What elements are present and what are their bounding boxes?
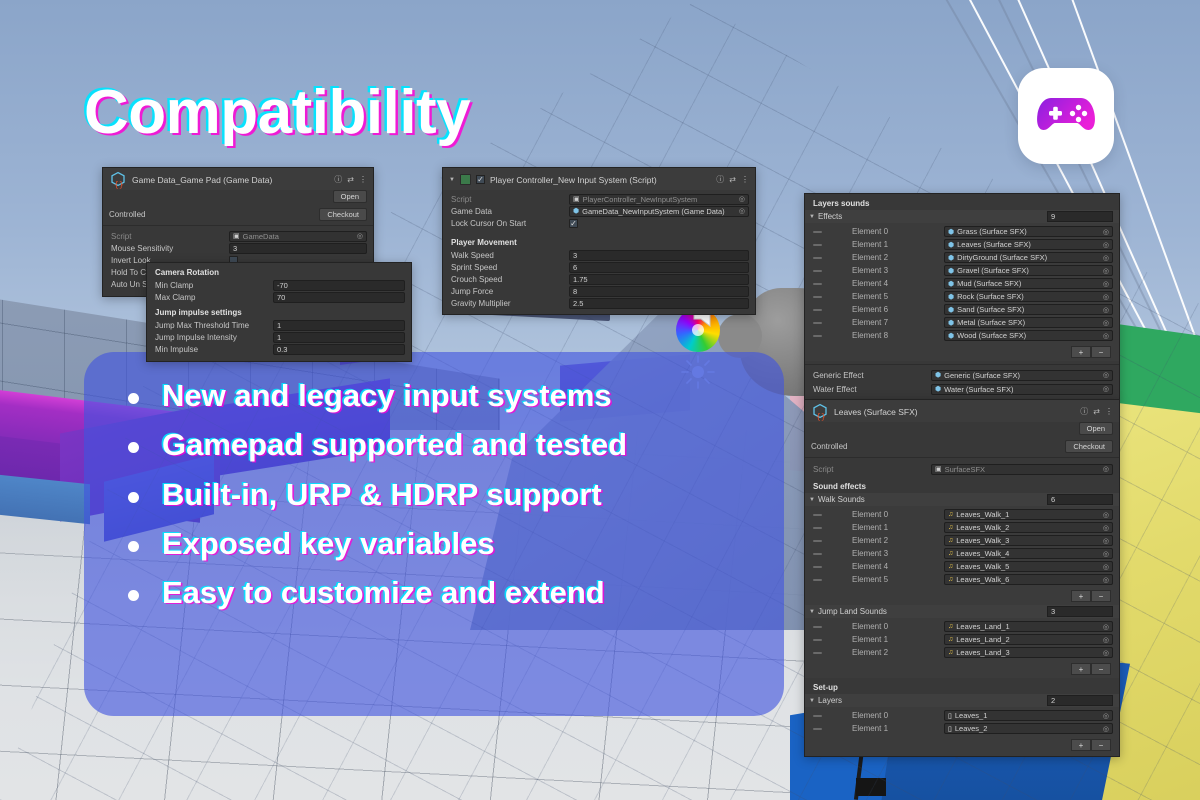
panel-title: Leaves (Surface SFX) <box>834 407 1075 417</box>
table-row: Min Clamp -70 <box>147 279 411 291</box>
drag-handle-icon[interactable] <box>813 527 822 529</box>
asset-icon: ⬢ <box>948 306 954 314</box>
table-row: Crouch Speed 1.75 <box>443 273 755 285</box>
svg-text:{}: {} <box>114 180 124 189</box>
array-size-field[interactable]: 9 <box>1047 211 1113 222</box>
table-row: Element 0♫Leaves_Land_1◎ <box>805 620 1119 633</box>
element-value: DirtyGround (Surface SFX) <box>957 253 1047 262</box>
element-value: Grass (Surface SFX) <box>957 227 1027 236</box>
drag-handle-icon[interactable] <box>813 335 822 337</box>
audio-clip-icon: ♫ <box>948 649 953 656</box>
table-row: Element 6⬢Sand (Surface SFX)◎ <box>805 303 1119 316</box>
object-picker-icon[interactable]: ◎ <box>1103 385 1109 393</box>
drag-handle-icon[interactable] <box>813 715 822 717</box>
panel-header: {} Game Data_Game Pad (Game Data) ⓘ ⇄ ⋮ <box>103 168 373 190</box>
list-item: Easy to customize and extend <box>118 575 754 611</box>
object-picker-icon[interactable]: ◎ <box>1103 537 1109 545</box>
element-value: Gravel (Surface SFX) <box>957 266 1029 275</box>
drag-handle-icon[interactable] <box>813 231 822 233</box>
array-walk-sounds: Element 0♫Leaves_Walk_1◎Element 1♫Leaves… <box>805 506 1119 588</box>
kebab-menu-icon[interactable]: ⋮ <box>741 175 749 184</box>
add-element-button[interactable]: + <box>1071 663 1091 675</box>
table-row: Jump Impulse Intensity 1 <box>147 331 411 343</box>
number-field[interactable]: 1 <box>273 332 405 343</box>
asset-icon: ⬢ <box>948 293 954 301</box>
object-picker-icon[interactable]: ◎ <box>1103 712 1109 720</box>
element-label: Element 1 <box>826 523 944 532</box>
object-field[interactable]: ♫Leaves_Walk_3◎ <box>944 535 1113 546</box>
number-field[interactable]: 3 <box>229 243 367 254</box>
table-row: Element 0⬢Grass (Surface SFX)◎ <box>805 225 1119 238</box>
object-picker-icon[interactable]: ◎ <box>1103 465 1109 473</box>
table-row: Element 5♫Leaves_Walk_6◎ <box>805 573 1119 586</box>
section-header: Sound effects <box>805 477 1119 493</box>
section-header: Set-up <box>805 678 1119 694</box>
object-picker-icon[interactable]: ◎ <box>1103 576 1109 584</box>
inspector-panel-leaves-sfx: {} Leaves (Surface SFX) ⓘ ⇄ ⋮ Open Contr… <box>804 399 1120 757</box>
field-label: Crouch Speed <box>451 275 569 284</box>
kebab-menu-icon[interactable]: ⋮ <box>359 175 367 184</box>
array-effects: Element 0⬢Grass (Surface SFX)◎Element 1⬢… <box>805 223 1119 344</box>
element-value: Leaves_Walk_2 <box>956 523 1009 532</box>
help-icon[interactable]: ⓘ <box>716 174 724 185</box>
object-field[interactable]: ⬢ Generic (Surface SFX)◎ <box>931 370 1113 381</box>
object-field[interactable]: ⬢Metal (Surface SFX)◎ <box>944 317 1113 328</box>
object-field[interactable]: ♫Leaves_Walk_5◎ <box>944 561 1113 572</box>
inspector-panel-camera-rotation: Camera Rotation Min Clamp -70 Max Clamp … <box>146 262 412 362</box>
panel-title: Player Controller_New Input System (Scri… <box>490 175 711 185</box>
foldout-label: Walk Sounds <box>818 495 1047 504</box>
table-row: Script ▣ SurfaceSFX◎ <box>805 461 1119 477</box>
inspector-panel-layers-sounds: Layers sounds ▼ Effects 9 Element 0⬢Gras… <box>804 193 1120 401</box>
field-label: Max Clamp <box>155 293 273 302</box>
asset-cube-icon: {} <box>811 403 829 421</box>
remove-element-button[interactable]: − <box>1091 739 1111 751</box>
inspector-panel-player-controller: ▼ ✓ Player Controller_New Input System (… <box>442 167 756 315</box>
remove-element-button[interactable]: − <box>1091 346 1111 358</box>
array-size-field[interactable]: 6 <box>1047 494 1113 505</box>
field-label: Walk Speed <box>451 251 569 260</box>
element-label: Element 0 <box>826 510 944 519</box>
table-row: Element 2♫Leaves_Land_3◎ <box>805 646 1119 659</box>
panel-title: Game Data_Game Pad (Game Data) <box>132 175 329 185</box>
table-row: Element 4⬢Mud (Surface SFX)◎ <box>805 277 1119 290</box>
object-field[interactable]: ⬢Rock (Surface SFX)◎ <box>944 291 1113 302</box>
element-value: Leaves_Land_2 <box>956 635 1009 644</box>
element-value: Leaves_Walk_1 <box>956 510 1009 519</box>
preset-icon[interactable]: ⇄ <box>1093 407 1100 416</box>
script-icon: ▣ <box>573 195 580 203</box>
script-field[interactable]: ▣ GameData◎ <box>229 231 367 242</box>
remove-element-button[interactable]: − <box>1091 590 1111 602</box>
drag-handle-icon[interactable] <box>813 566 822 568</box>
field-label: Jump Force <box>451 287 569 296</box>
object-picker-icon[interactable]: ◎ <box>1103 524 1109 532</box>
number-field[interactable]: 70 <box>273 292 405 303</box>
element-label: Element 5 <box>826 575 944 584</box>
section-header: Player Movement <box>443 233 755 249</box>
script-icon: ▣ <box>233 232 240 240</box>
element-label: Element 3 <box>826 266 944 275</box>
element-label: Element 1 <box>826 635 944 644</box>
table-row: Element 2⬢DirtyGround (Surface SFX)◎ <box>805 251 1119 264</box>
list-item: Built-in, URP & HDRP support <box>118 477 754 513</box>
foldout-label: Layers <box>818 696 1047 705</box>
table-row: Element 1♫Leaves_Land_2◎ <box>805 633 1119 646</box>
object-field[interactable]: ♫Leaves_Land_3◎ <box>944 647 1113 658</box>
list-item: Exposed key variables <box>118 526 754 562</box>
section-header: Jump impulse settings <box>147 303 411 319</box>
table-row: Element 1▯Leaves_2◎ <box>805 722 1119 735</box>
element-label: Element 2 <box>826 536 944 545</box>
foldout-jump-land-sounds[interactable]: ▼ Jump Land Sounds 3 <box>805 605 1119 618</box>
drag-handle-icon[interactable] <box>813 309 822 311</box>
field-label: Water Effect <box>813 385 931 394</box>
table-row: Max Clamp 70 <box>147 291 411 303</box>
table-row: Element 2♫Leaves_Walk_3◎ <box>805 534 1119 547</box>
object-picker-icon[interactable]: ◎ <box>1103 623 1109 631</box>
element-value: Leaves_Walk_6 <box>956 575 1009 584</box>
script-field[interactable]: ▣ PlayerController_NewInputSystem◎ <box>569 194 749 205</box>
element-label: Element 6 <box>826 305 944 314</box>
element-value: Rock (Surface SFX) <box>957 292 1024 301</box>
table-row: Water Effect ⬢ Water (Surface SFX)◎ <box>805 382 1119 396</box>
object-field[interactable]: ▯Leaves_2◎ <box>944 723 1113 734</box>
object-field[interactable]: ⬢Wood (Surface SFX)◎ <box>944 330 1113 341</box>
add-element-button[interactable]: + <box>1071 739 1091 751</box>
field-label: Game Data <box>451 207 569 216</box>
foldout-triangle-icon[interactable]: ▼ <box>809 609 815 615</box>
drag-handle-icon[interactable] <box>813 579 822 581</box>
drag-handle-icon[interactable] <box>813 296 822 298</box>
audio-clip-icon: ♫ <box>948 563 953 570</box>
element-label: Element 1 <box>826 240 944 249</box>
array-layers: Element 0▯Leaves_1◎Element 1▯Leaves_2◎ <box>805 707 1119 737</box>
drag-handle-icon[interactable] <box>813 626 822 628</box>
table-row: Element 1♫Leaves_Walk_2◎ <box>805 521 1119 534</box>
table-row: Script ▣ PlayerController_NewInputSystem… <box>443 193 755 205</box>
drag-handle-icon[interactable] <box>813 257 822 259</box>
table-row: Walk Speed 3 <box>443 249 755 261</box>
script-component-icon <box>460 174 471 185</box>
audio-clip-icon: ♫ <box>948 623 953 630</box>
element-label: Element 1 <box>826 724 944 733</box>
add-element-button[interactable]: + <box>1071 590 1091 602</box>
script-icon: ▣ <box>935 465 942 473</box>
object-field[interactable]: ⬢DirtyGround (Surface SFX)◎ <box>944 252 1113 263</box>
table-row: Element 1⬢Leaves (Surface SFX)◎ <box>805 238 1119 251</box>
number-field[interactable]: 6 <box>569 262 749 273</box>
number-field[interactable]: 3 <box>569 250 749 261</box>
table-row: Generic Effect ⬢ Generic (Surface SFX)◎ <box>805 368 1119 382</box>
field-label: Gravity Multiplier <box>451 299 569 308</box>
asset-icon: ⬢ <box>935 385 941 393</box>
asset-icon: ⬢ <box>948 267 954 275</box>
object-picker-icon[interactable]: ◎ <box>739 195 745 203</box>
asset-icon: ⬢ <box>935 371 941 379</box>
number-field[interactable]: 2.5 <box>569 298 749 309</box>
svg-text:{}: {} <box>816 412 826 421</box>
object-field[interactable]: ⬢Leaves (Surface SFX)◎ <box>944 239 1113 250</box>
drag-handle-icon[interactable] <box>813 322 822 324</box>
object-field[interactable]: ♫Leaves_Walk_2◎ <box>944 522 1113 533</box>
audio-clip-icon: ♫ <box>948 636 953 643</box>
foldout-triangle-icon[interactable]: ▼ <box>809 497 815 503</box>
object-picker-icon[interactable]: ◎ <box>1103 550 1109 558</box>
element-label: Element 5 <box>826 292 944 301</box>
table-row: Min Impulse 0.3 <box>147 343 411 355</box>
field-label: Jump Impulse Intensity <box>155 333 273 342</box>
array-size-field[interactable]: 2 <box>1047 695 1113 706</box>
field-label: Lock Cursor On Start <box>451 219 569 228</box>
audio-clip-icon: ♫ <box>948 550 953 557</box>
remove-element-button[interactable]: − <box>1091 663 1111 675</box>
element-label: Element 2 <box>826 253 944 262</box>
object-field[interactable]: ♫Leaves_Walk_6◎ <box>944 574 1113 585</box>
panel-header: {} Leaves (Surface SFX) ⓘ ⇄ ⋮ <box>805 400 1119 422</box>
table-row: Element 0♫Leaves_Walk_1◎ <box>805 508 1119 521</box>
object-picker-icon[interactable]: ◎ <box>1103 563 1109 571</box>
audio-clip-icon: ♫ <box>948 576 953 583</box>
object-field[interactable]: ⬢Grass (Surface SFX)◎ <box>944 226 1113 237</box>
foldout-layers[interactable]: ▼ Layers 2 <box>805 694 1119 707</box>
element-value: Leaves_Land_1 <box>956 622 1009 631</box>
array-size-field[interactable]: 3 <box>1047 606 1113 617</box>
table-row: Jump Force 8 <box>443 285 755 297</box>
table-row: Game Data ⬢ GameData_NewInputSystem (Gam… <box>443 205 755 217</box>
app-icon-badge <box>1018 68 1114 164</box>
add-element-button[interactable]: + <box>1071 346 1091 358</box>
table-row: Lock Cursor On Start ✓ <box>443 217 755 229</box>
object-picker-icon[interactable]: ◎ <box>1103 267 1109 275</box>
object-picker-icon[interactable]: ◎ <box>1103 293 1109 301</box>
object-picker-icon[interactable]: ◎ <box>1103 649 1109 657</box>
element-label: Element 2 <box>826 648 944 657</box>
audio-clip-icon: ♫ <box>948 511 953 518</box>
table-row: Mouse Sensitivity 3 <box>103 242 373 254</box>
drag-handle-icon[interactable] <box>813 652 822 654</box>
object-picker-icon[interactable]: ◎ <box>1103 254 1109 262</box>
element-label: Element 4 <box>826 562 944 571</box>
element-value: Metal (Surface SFX) <box>957 318 1025 327</box>
element-label: Element 0 <box>826 622 944 631</box>
element-label: Element 3 <box>826 549 944 558</box>
table-row: Jump Max Threshold Time 1 <box>147 319 411 331</box>
object-picker-icon[interactable]: ◎ <box>1103 511 1109 519</box>
audio-clip-icon: ♫ <box>948 537 953 544</box>
foldout-triangle-icon[interactable]: ▼ <box>809 214 815 220</box>
object-picker-icon[interactable]: ◎ <box>739 207 745 215</box>
checkout-button[interactable]: Checkout <box>1065 440 1113 453</box>
object-field[interactable]: ♫Leaves_Walk_4◎ <box>944 548 1113 559</box>
field-label: Script <box>451 195 569 204</box>
number-field[interactable]: 1 <box>273 320 405 331</box>
asset-icon: ⬢ <box>948 332 954 340</box>
field-label: Min Clamp <box>155 281 273 290</box>
number-field[interactable]: -70 <box>273 280 405 291</box>
drag-handle-icon[interactable] <box>813 283 822 285</box>
asset-icon: ⬢ <box>948 241 954 249</box>
field-label: Script <box>813 465 931 474</box>
element-value: Mud (Surface SFX) <box>957 279 1021 288</box>
open-button[interactable]: Open <box>1079 422 1113 435</box>
asset-icon: ⬢ <box>948 280 954 288</box>
controlled-label: Controlled <box>109 210 319 219</box>
section-header: Layers sounds <box>805 194 1119 210</box>
drag-handle-icon[interactable] <box>813 514 822 516</box>
audio-clip-icon: ♫ <box>948 524 953 531</box>
list-item: Gamepad supported and tested <box>118 427 754 463</box>
table-row: Element 0▯Leaves_1◎ <box>805 709 1119 722</box>
number-field[interactable]: 1.75 <box>569 274 749 285</box>
document-icon: ▯ <box>948 725 952 733</box>
table-row: Element 7⬢Metal (Surface SFX)◎ <box>805 316 1119 329</box>
table-row: Gravity Multiplier 2.5 <box>443 297 755 309</box>
asset-cube-icon: {} <box>109 171 127 189</box>
foldout-walk-sounds[interactable]: ▼ Walk Sounds 6 <box>805 493 1119 506</box>
object-field[interactable]: ⬢ Water (Surface SFX)◎ <box>931 384 1113 395</box>
element-label: Element 8 <box>826 331 944 340</box>
table-row: Script ▣ GameData◎ <box>103 230 373 242</box>
object-field[interactable]: ⬢ GameData_NewInputSystem (Game Data)◎ <box>569 206 749 217</box>
object-field[interactable]: ⬢Gravel (Surface SFX)◎ <box>944 265 1113 276</box>
element-value: Leaves_Walk_3 <box>956 536 1009 545</box>
object-picker-icon[interactable]: ◎ <box>1103 725 1109 733</box>
array-jump-land-sounds: Element 0♫Leaves_Land_1◎Element 1♫Leaves… <box>805 618 1119 661</box>
object-field[interactable]: ♫Leaves_Land_1◎ <box>944 621 1113 632</box>
feature-list: New and legacy input systems Gamepad sup… <box>118 378 754 611</box>
asset-icon: ⬢ <box>948 228 954 236</box>
object-picker-icon[interactable]: ◎ <box>1103 636 1109 644</box>
preset-icon[interactable]: ⇄ <box>347 175 354 184</box>
foldout-effects[interactable]: ▼ Effects 9 <box>805 210 1119 223</box>
table-row: Element 3♫Leaves_Walk_4◎ <box>805 547 1119 560</box>
asset-icon: ⬢ <box>573 207 579 215</box>
component-enabled-checkbox[interactable]: ✓ <box>476 175 485 184</box>
drag-handle-icon[interactable] <box>813 270 822 272</box>
page-title: Compatibility <box>84 82 470 144</box>
element-value: Leaves_2 <box>955 724 988 733</box>
field-label: Mouse Sensitivity <box>111 244 229 253</box>
foldout-label: Effects <box>818 212 1047 221</box>
drag-handle-icon[interactable] <box>813 639 822 641</box>
list-item: New and legacy input systems <box>118 378 754 414</box>
drag-handle-icon[interactable] <box>813 553 822 555</box>
field-label: Sprint Speed <box>451 263 569 272</box>
element-value: Wood (Surface SFX) <box>957 331 1026 340</box>
object-picker-icon[interactable]: ◎ <box>1103 332 1109 340</box>
element-value: Leaves_Walk_4 <box>956 549 1009 558</box>
section-header: Camera Rotation <box>147 263 411 279</box>
table-row: Element 8⬢Wood (Surface SFX)◎ <box>805 329 1119 342</box>
element-label: Element 0 <box>826 227 944 236</box>
object-field[interactable]: ♫Leaves_Land_2◎ <box>944 634 1113 645</box>
object-picker-icon[interactable]: ◎ <box>1103 280 1109 288</box>
checkbox-lock-cursor[interactable]: ✓ <box>569 219 578 228</box>
element-label: Element 0 <box>826 711 944 720</box>
object-picker-icon[interactable]: ◎ <box>357 232 363 240</box>
document-icon: ▯ <box>948 712 952 720</box>
foldout-triangle-icon[interactable]: ▼ <box>809 698 815 704</box>
open-button[interactable]: Open <box>333 190 367 203</box>
element-value: Leaves_Walk_5 <box>956 562 1009 571</box>
table-row: Element 5⬢Rock (Surface SFX)◎ <box>805 290 1119 303</box>
field-label: Jump Max Threshold Time <box>155 321 273 330</box>
element-value: Leaves_Land_3 <box>956 648 1009 657</box>
field-label: Min Impulse <box>155 345 273 354</box>
drag-handle-icon[interactable] <box>813 244 822 246</box>
help-icon[interactable]: ⓘ <box>334 174 342 185</box>
element-value: Leaves_1 <box>955 711 988 720</box>
object-picker-icon[interactable]: ◎ <box>1103 241 1109 249</box>
object-field[interactable]: ♫Leaves_Walk_1◎ <box>944 509 1113 520</box>
drag-handle-icon[interactable] <box>813 540 822 542</box>
controlled-label: Controlled <box>811 442 1065 451</box>
element-value: Leaves (Surface SFX) <box>957 240 1031 249</box>
element-label: Element 4 <box>826 279 944 288</box>
object-field[interactable]: ▯Leaves_1◎ <box>944 710 1113 721</box>
table-row: Element 3⬢Gravel (Surface SFX)◎ <box>805 264 1119 277</box>
preset-icon[interactable]: ⇄ <box>729 175 736 184</box>
number-field[interactable]: 8 <box>569 286 749 297</box>
table-row: Element 4♫Leaves_Walk_5◎ <box>805 560 1119 573</box>
object-picker-icon[interactable]: ◎ <box>1103 371 1109 379</box>
foldout-label: Jump Land Sounds <box>818 607 1047 616</box>
element-value: Sand (Surface SFX) <box>957 305 1024 314</box>
kebab-menu-icon[interactable]: ⋮ <box>1105 407 1113 416</box>
element-label: Element 7 <box>826 318 944 327</box>
table-row: Sprint Speed 6 <box>443 261 755 273</box>
asset-icon: ⬢ <box>948 254 954 262</box>
script-field[interactable]: ▣ SurfaceSFX◎ <box>931 464 1113 475</box>
feature-list-panel: New and legacy input systems Gamepad sup… <box>84 352 784 716</box>
object-picker-icon[interactable]: ◎ <box>1103 228 1109 236</box>
field-label: Generic Effect <box>813 371 931 380</box>
number-field[interactable]: 0.3 <box>273 344 405 355</box>
object-field[interactable]: ⬢Mud (Surface SFX)◎ <box>944 278 1113 289</box>
help-icon[interactable]: ⓘ <box>1080 406 1088 417</box>
drag-handle-icon[interactable] <box>813 728 822 730</box>
field-label: Script <box>111 232 229 241</box>
gamepad-icon <box>1035 90 1097 143</box>
object-field[interactable]: ⬢Sand (Surface SFX)◎ <box>944 304 1113 315</box>
object-picker-icon[interactable]: ◎ <box>1103 306 1109 314</box>
panel-header: ▼ ✓ Player Controller_New Input System (… <box>443 168 755 190</box>
foldout-triangle-icon[interactable]: ▼ <box>449 177 455 183</box>
checkout-button[interactable]: Checkout <box>319 208 367 221</box>
object-picker-icon[interactable]: ◎ <box>1103 319 1109 327</box>
asset-icon: ⬢ <box>948 319 954 327</box>
